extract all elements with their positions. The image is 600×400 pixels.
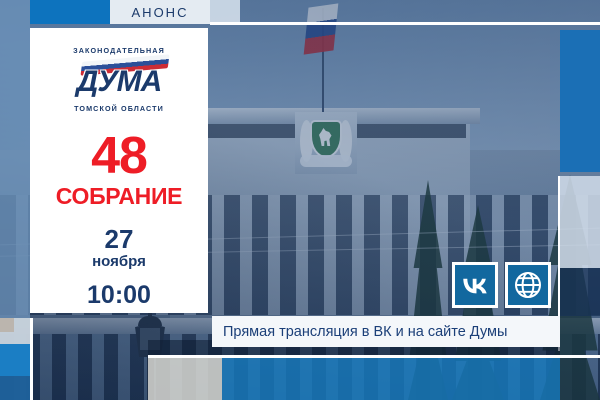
duma-logo: ЗАКОНОДАТЕЛЬНАЯ ДУМА ТОМСКОЙ ОБЛАСТИ xyxy=(45,46,193,113)
logo-line-top: ЗАКОНОДАТЕЛЬНАЯ xyxy=(73,46,165,55)
decor-right-blue-band xyxy=(560,30,600,172)
decor-bottom-pale-block xyxy=(148,358,222,400)
logo-wordmark: ДУМА xyxy=(56,65,182,99)
logo-wordmark-group: ДУМА xyxy=(56,57,182,103)
vk-icon[interactable] xyxy=(452,262,498,308)
decor-left-white-rule xyxy=(30,318,33,400)
decor-lowerleft-blue-block-2 xyxy=(0,376,30,400)
decor-top-blue-block xyxy=(30,0,110,24)
broadcast-caption-text: Прямая трансляция в ВК и на сайте Думы xyxy=(223,324,507,340)
event-info-card: ЗАКОНОДАТЕЛЬНАЯ ДУМА ТОМСКОЙ ОБЛАСТИ 48 … xyxy=(30,28,208,313)
broadcast-caption-bar: Прямая трансляция в ВК и на сайте Думы xyxy=(212,316,560,347)
decor-top-pale-block xyxy=(210,0,240,22)
decor-lowerleft-square xyxy=(0,318,14,332)
decor-bottom-blue-block xyxy=(222,358,560,400)
announcement-label: АНОНС xyxy=(132,5,189,20)
session-number: 48 xyxy=(91,129,147,183)
session-label: СОБРАНИЕ xyxy=(56,183,182,209)
event-day: 27 xyxy=(105,225,134,253)
event-month: ноября xyxy=(92,253,146,271)
event-time: 10:00 xyxy=(87,281,151,309)
decor-right-pale-band xyxy=(560,176,600,268)
broadcast-icons xyxy=(452,262,551,308)
decor-lowerleft-blue-block xyxy=(0,344,30,376)
logo-line-bottom: ТОМСКОЙ ОБЛАСТИ xyxy=(74,104,164,113)
announcement-label-bar: АНОНС xyxy=(110,0,210,24)
decor-right-dark-band xyxy=(560,268,600,316)
announcement-poster: АНОНС ЗАКОНОДАТЕЛЬНАЯ ДУМА ТОМСКОЙ ОБЛАС… xyxy=(0,0,600,400)
globe-icon[interactable] xyxy=(505,262,551,308)
decor-top-white-rule xyxy=(210,22,600,25)
